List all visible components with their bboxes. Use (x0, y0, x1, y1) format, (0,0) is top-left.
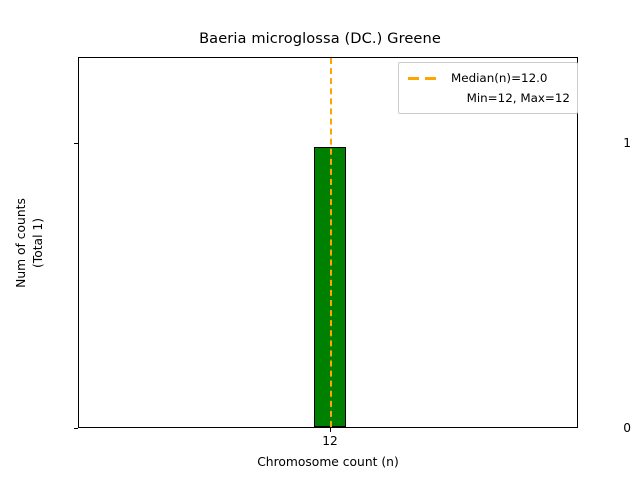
y-axis-label: Num of counts (Total 1) (0, 57, 60, 428)
x-tick-mark-12 (330, 428, 331, 432)
legend-label-minmax: Min=12, Max=12 (467, 91, 570, 105)
legend-label-median: Median(n)=12.0 (451, 71, 548, 85)
y-axis-label-line2: (Total 1) (30, 198, 47, 288)
legend: Median(n)=12.0 Min=12, Max=12 (398, 62, 578, 114)
page-title: Baeria microglossa (DC.) Greene (0, 30, 640, 47)
x-axis-label: Chromosome count (n) (78, 455, 578, 469)
legend-item-median: Median(n)=12.0 (406, 68, 570, 88)
legend-item-minmax: Min=12, Max=12 (406, 88, 570, 107)
median-line (330, 58, 332, 427)
y-tick-mark-0 (74, 428, 78, 429)
y-axis-label-line1: Num of counts (13, 198, 30, 288)
chart-figure: Baeria microglossa (DC.) Greene Num of c… (0, 0, 640, 480)
x-tick-label-12: 12 (322, 434, 338, 448)
dashed-line-icon (406, 71, 444, 85)
